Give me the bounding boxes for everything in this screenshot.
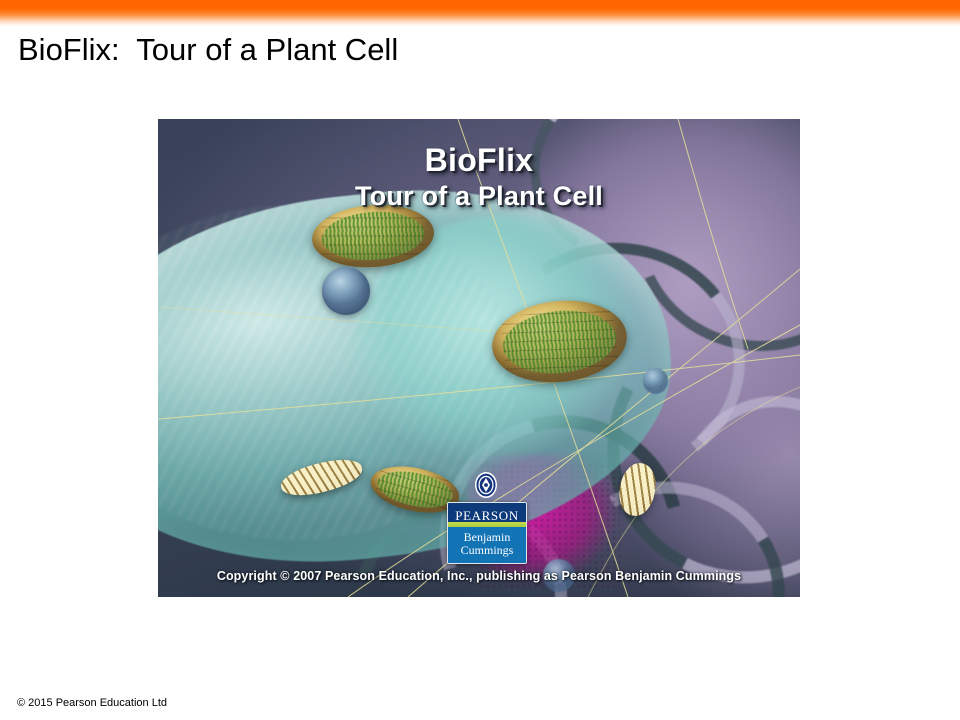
footer-copyright: © 2015 Pearson Education Ltd: [17, 697, 167, 709]
pearson-seal-icon: [472, 471, 500, 499]
top-accent-band: [0, 0, 960, 26]
bioflix-video-still[interactable]: BioFlix Tour of a Plant Cell PEARSON: [158, 119, 800, 597]
pearson-logo-lockup: PEARSON Benjamin Cummings: [447, 471, 525, 564]
thylakoid-grana: [320, 209, 426, 263]
bc-line2: Cummings: [461, 544, 514, 557]
media-copyright-text: Copyright © 2007 Pearson Education, Inc.…: [158, 569, 800, 583]
pearson-logo: PEARSON Benjamin Cummings: [447, 502, 527, 564]
benjamin-cummings-wordmark: Benjamin Cummings: [448, 527, 526, 563]
media-stage: BioFlix Tour of a Plant Cell PEARSON: [158, 119, 800, 597]
vesicle-center: [322, 267, 370, 315]
thylakoid-grana: [500, 305, 619, 378]
vesicle-right: [643, 368, 669, 394]
page-title: BioFlix: Tour of a Plant Cell: [18, 31, 398, 69]
